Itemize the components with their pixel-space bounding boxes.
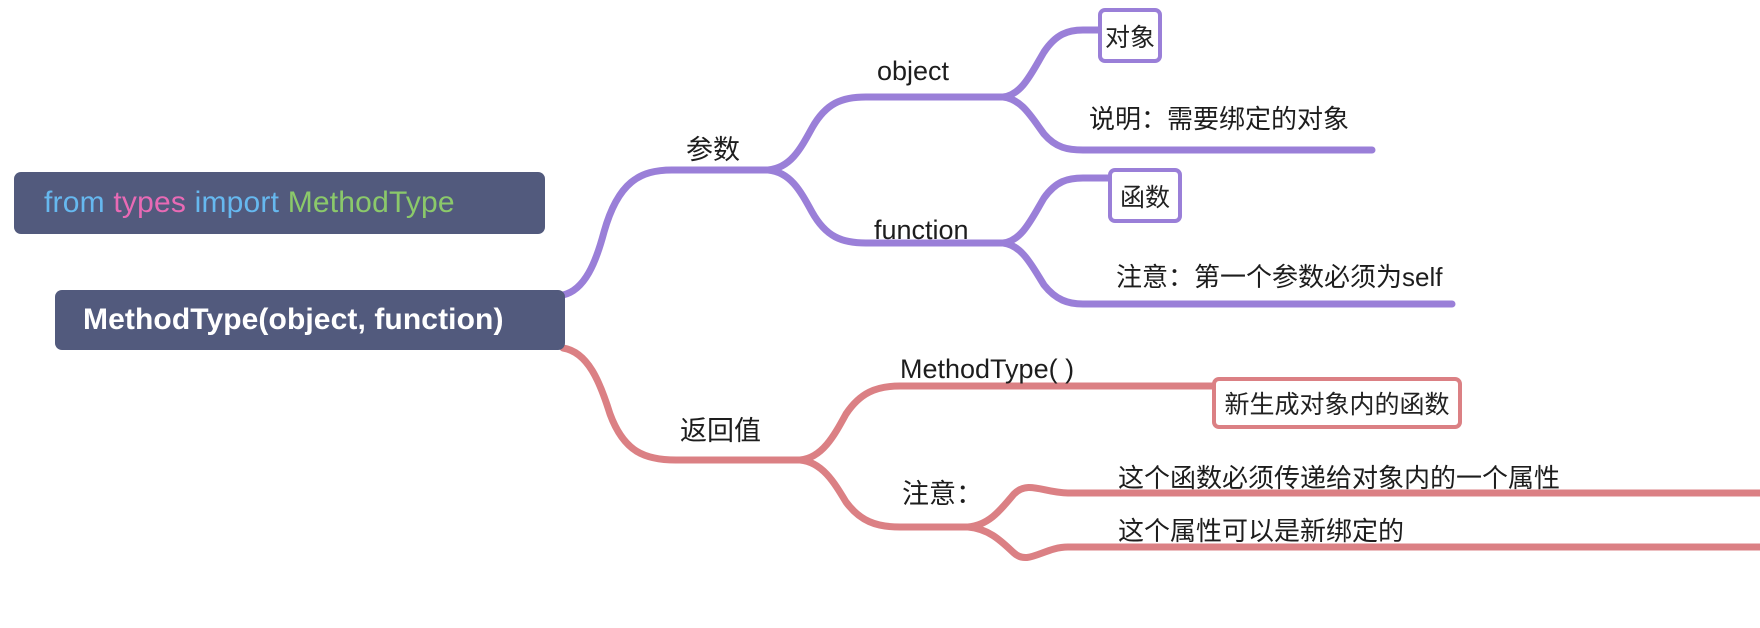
root-node-label: MethodType(object, function) <box>83 303 504 337</box>
code-token-import: import <box>195 186 288 220</box>
leaf-box-object[interactable]: 对象 <box>1098 8 1162 63</box>
link-object-to-box <box>1003 30 1098 97</box>
leaf-box-new-function-label: 新生成对象内的函数 <box>1224 385 1449 421</box>
node-label-object-note[interactable]: 说明：需要绑定的对象 <box>1089 106 1349 132</box>
code-snippet-node[interactable]: from types import MethodType <box>14 172 545 234</box>
node-label-caution-1[interactable]: 这个函数必须传递给对象内的一个属性 <box>1118 465 1560 491</box>
node-label-function[interactable]: function <box>874 217 969 244</box>
branch-label-parameters[interactable]: 参数 <box>686 137 740 164</box>
leaf-box-function-label: 函数 <box>1120 178 1170 214</box>
node-label-function-note[interactable]: 注意：第一个参数必须为self <box>1116 264 1442 290</box>
link-root-to-parameters <box>563 170 768 295</box>
link-return-to-methodtype <box>800 386 1212 460</box>
code-token-methodtype: MethodType <box>288 186 455 220</box>
leaf-box-new-function[interactable]: 新生成对象内的函数 <box>1212 377 1462 429</box>
node-label-object[interactable]: object <box>877 58 949 85</box>
node-label-caution[interactable]: 注意： <box>902 481 983 508</box>
code-token-types: types <box>113 186 194 220</box>
mindmap-canvas: from types import MethodType MethodType(… <box>0 0 1760 628</box>
link-function-to-box <box>1003 178 1108 243</box>
root-node[interactable]: MethodType(object, function) <box>55 290 565 350</box>
link-parameters-to-object <box>768 97 1003 170</box>
node-label-methodtype-call[interactable]: MethodType( ) <box>900 356 1074 383</box>
code-token-from: from <box>44 186 113 220</box>
branch-label-return-value[interactable]: 返回值 <box>680 418 761 445</box>
node-label-caution-2[interactable]: 这个属性可以是新绑定的 <box>1118 518 1404 544</box>
leaf-box-object-label: 对象 <box>1105 18 1155 54</box>
leaf-box-function[interactable]: 函数 <box>1108 168 1182 223</box>
